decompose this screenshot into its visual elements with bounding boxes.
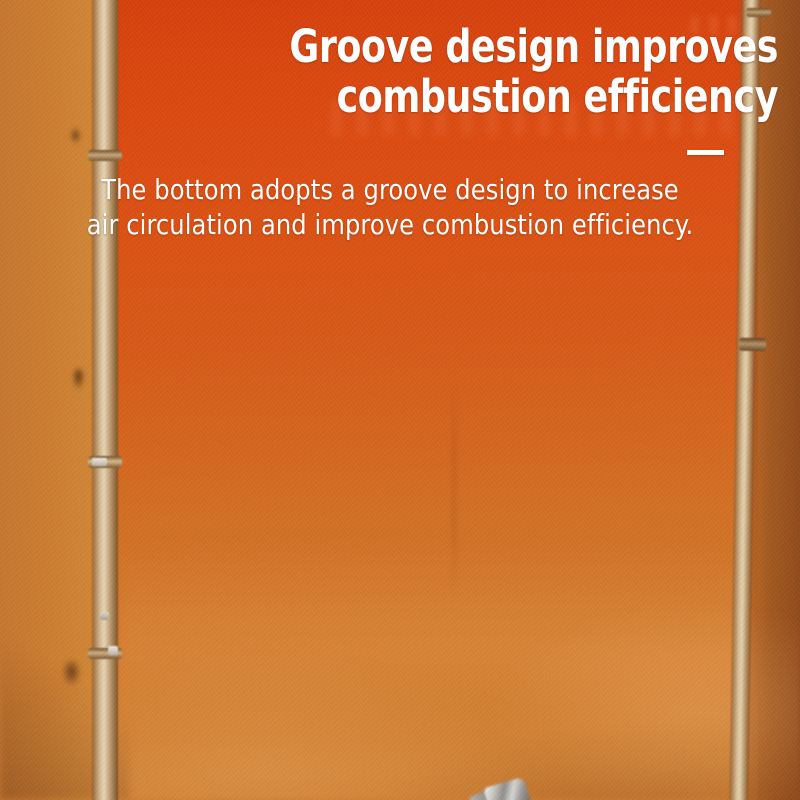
subheadline-line-1: The bottom adopts a groove design to inc… xyxy=(16,172,765,207)
headline-line-2: combustion efficiency xyxy=(238,72,778,122)
product-feature-banner: Groove design improves combustion effici… xyxy=(0,0,800,800)
headline-divider-rule xyxy=(687,150,724,155)
headline: Groove design improves combustion effici… xyxy=(238,22,778,122)
text-overlay: Groove design improves combustion effici… xyxy=(0,0,800,800)
subheadline: The bottom adopts a groove design to inc… xyxy=(16,172,765,242)
subheadline-line-2: air circulation and improve combustion e… xyxy=(16,207,765,242)
headline-line-1: Groove design improves xyxy=(238,22,778,72)
